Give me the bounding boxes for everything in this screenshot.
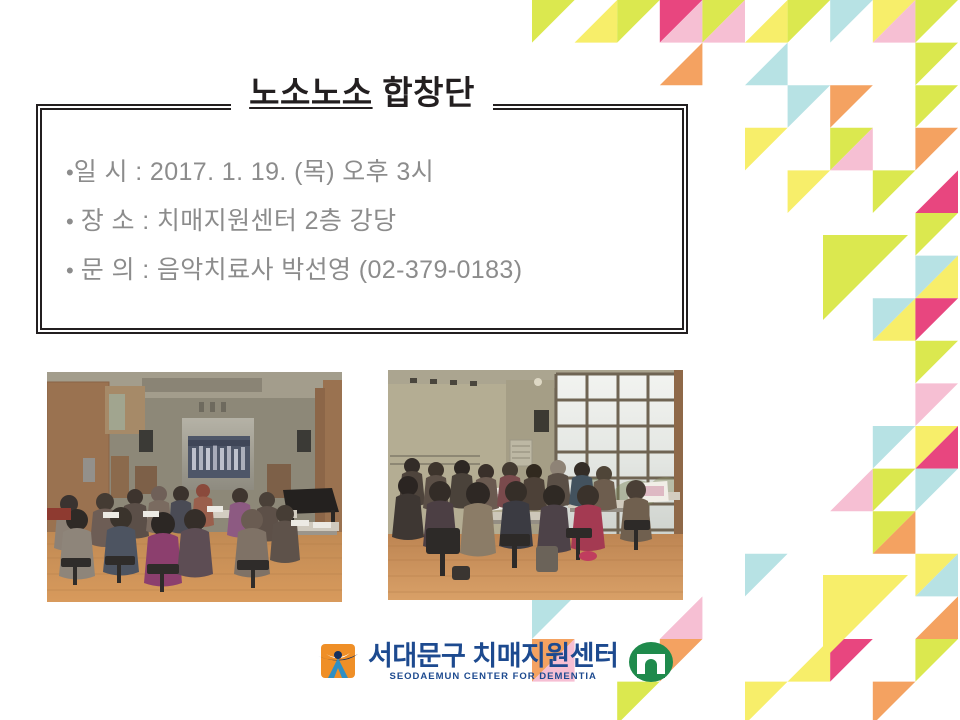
decor-triangle-magenta — [915, 426, 958, 469]
announcement-card: 노소노소 합창단 • 일 시 : 2017. 1. 19. (목) 오후 3시 … — [36, 104, 688, 334]
decor-triangle-lime — [830, 256, 873, 299]
decor-triangle-aqua — [830, 0, 873, 43]
decor-triangle-orange — [830, 85, 873, 128]
detail-row-location-text: 장 소 : 치매지원센터 2층 강당 — [81, 197, 397, 245]
bullet-icon: • — [66, 198, 74, 246]
decor-triangle-yellow — [915, 426, 958, 469]
decor-triangle-pink — [660, 0, 703, 43]
decor-triangle-aqua — [915, 256, 958, 299]
decor-triangle-orange — [873, 511, 916, 554]
detail-row-datetime-text: 일 시 : 2017. 1. 19. (목) 오후 3시 — [74, 148, 434, 196]
decor-triangle-lime — [915, 213, 958, 256]
decor-triangle-pink — [830, 469, 873, 512]
decor-triangle-yellow — [788, 639, 831, 682]
logo-gate-svg — [628, 640, 674, 684]
photo-lecture-hall-windows-graphic — [388, 370, 683, 600]
logo-korean-name: 서대문구 치매지원센터 — [368, 642, 618, 671]
decor-triangle-pink — [915, 383, 958, 426]
decor-triangle-large-yellow — [823, 575, 908, 660]
decor-triangle-pink — [702, 0, 745, 43]
decor-triangle-aqua — [788, 85, 831, 128]
bullet-icon: • — [66, 149, 74, 197]
decor-triangle-aqua — [873, 426, 916, 469]
card-detail-list: • 일 시 : 2017. 1. 19. (목) 오후 3시 • 장 소 : 치… — [66, 148, 668, 295]
decor-triangle-lime — [915, 0, 958, 43]
decor-triangle-yellow — [575, 0, 618, 43]
photo-lecture-hall-projector — [47, 372, 342, 602]
logo-person-mark-svg — [316, 642, 360, 682]
detail-row-datetime: • 일 시 : 2017. 1. 19. (목) 오후 3시 — [66, 148, 668, 197]
detail-row-contact-text: 문 의 : 음악치료사 박선영 (02-379-0183) — [81, 246, 523, 294]
logo-person-mark-icon — [316, 642, 360, 682]
decor-triangle-lime — [617, 682, 660, 720]
decor-triangle-orange — [915, 128, 958, 171]
decor-triangle-aqua — [745, 43, 788, 86]
decor-triangle-magenta — [660, 0, 703, 43]
decor-triangle-magenta — [915, 170, 958, 213]
decor-triangle-yellow — [873, 298, 916, 341]
decor-triangle-lime — [788, 0, 831, 43]
page-title-underlined-part: 노소노소 — [249, 74, 372, 111]
decor-triangle-lime — [915, 85, 958, 128]
decor-triangle-lime — [873, 511, 916, 554]
decor-triangle-lime — [702, 0, 745, 43]
decor-triangle-orange — [915, 596, 958, 639]
decor-triangle-yellow — [873, 0, 916, 43]
decor-triangle-yellow — [745, 0, 788, 43]
decor-triangle-lime — [915, 639, 958, 682]
decor-triangle-lime — [532, 0, 575, 43]
page-title-text: 노소노소 합창단 — [231, 70, 493, 116]
decor-triangle-aqua — [873, 298, 916, 341]
logo-english-name: SEODAEMUN CENTER FOR DEMENTIA — [368, 671, 618, 683]
decor-triangle-pink — [830, 596, 873, 639]
decor-triangle-yellow — [915, 554, 958, 597]
decor-triangle-lime — [873, 170, 916, 213]
organization-logo: 서대문구 치매지원센터 SEODAEMUN CENTER FOR DEMENTI… — [316, 638, 674, 686]
slide-canvas: 노소노소 합창단 • 일 시 : 2017. 1. 19. (목) 오후 3시 … — [0, 0, 960, 720]
decor-triangle-pink — [660, 596, 703, 639]
decor-triangle-lime — [915, 341, 958, 384]
logo-wordmark: 서대문구 치매지원센터 SEODAEMUN CENTER FOR DEMENTI… — [368, 642, 618, 683]
decor-triangle-aqua — [915, 554, 958, 597]
decor-triangle-pink — [873, 0, 916, 43]
decor-triangle-pink — [830, 128, 873, 171]
detail-row-contact: • 문 의 : 음악치료사 박선영 (02-379-0183) — [66, 246, 668, 295]
decor-triangle-aqua — [745, 554, 788, 597]
bullet-icon: • — [66, 247, 74, 295]
decor-triangle-yellow — [915, 256, 958, 299]
decor-triangle-large-lime — [823, 235, 908, 320]
photo-lecture-hall-projector-graphic — [47, 372, 342, 602]
decor-triangle-magenta — [915, 298, 958, 341]
decor-triangle-lime — [830, 128, 873, 171]
decor-triangle-lime — [617, 0, 660, 43]
detail-row-location: • 장 소 : 치매지원센터 2층 강당 — [66, 197, 668, 246]
page-title: 노소노소 합창단 — [36, 67, 688, 119]
decor-triangle-orange — [873, 682, 916, 720]
decor-triangle-yellow — [745, 128, 788, 171]
decor-triangle-aqua — [915, 469, 958, 512]
decor-triangle-yellow — [745, 682, 788, 720]
decor-triangle-magenta — [830, 639, 873, 682]
decor-triangle-lime — [873, 469, 916, 512]
photo-lecture-hall-windows — [388, 370, 683, 600]
decor-triangle-yellow — [788, 170, 831, 213]
decor-triangle-aqua — [532, 596, 575, 639]
logo-gate-icon — [628, 640, 674, 684]
page-title-plain-part: 합창단 — [373, 74, 475, 111]
decor-triangle-lime — [915, 43, 958, 86]
